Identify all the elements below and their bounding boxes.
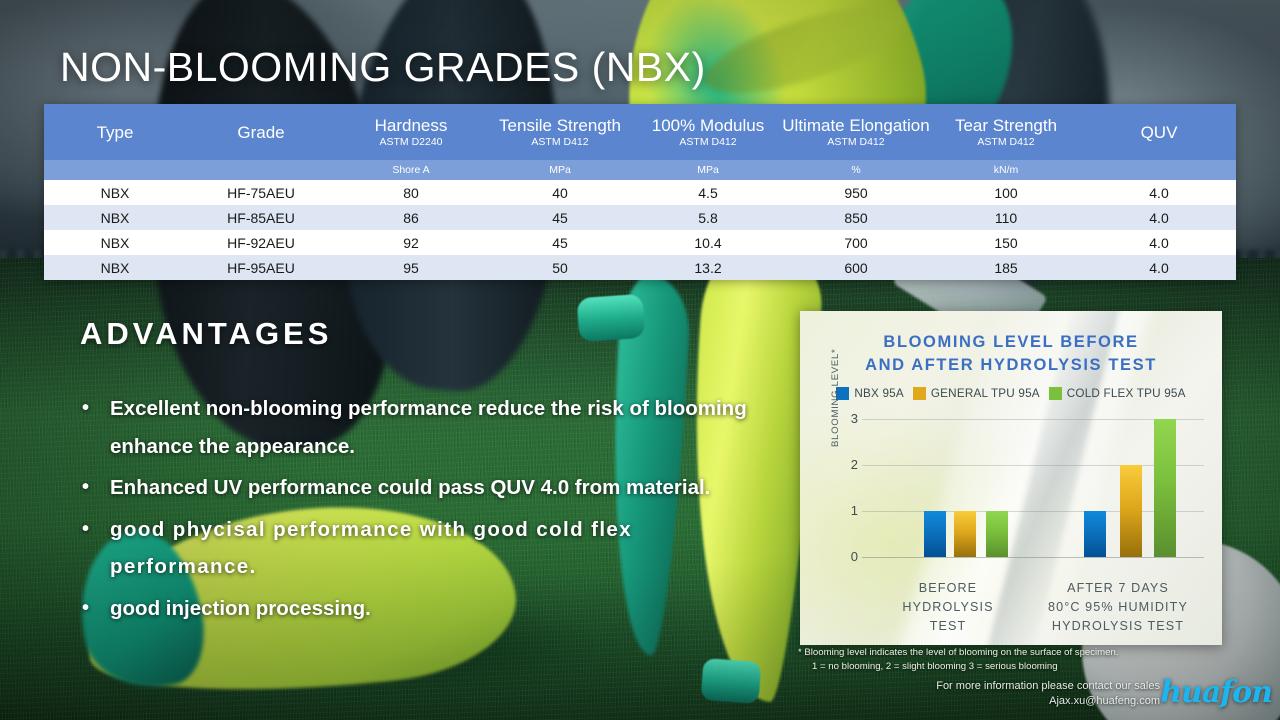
x-label-line: HYDROLYSIS TEST (1018, 617, 1218, 636)
unit-hardness: Shore A (336, 160, 486, 180)
y-tick-0: 0 (836, 549, 858, 564)
table-col-type: Type (44, 104, 186, 160)
unit-modulus: MPa (634, 160, 782, 180)
bar-nbx-95a-before (924, 511, 946, 557)
unit-tensile: MPa (486, 160, 634, 180)
legend-item-nbx-95a: NBX 95A (836, 387, 903, 400)
table-row: NBX HF-92AEU 92 45 10.4 700 150 4.0 (44, 230, 1236, 255)
contact-email[interactable]: Ajax.xu@huafeng.com (936, 694, 1160, 709)
cell-tensile: 50 (486, 255, 634, 280)
unit-grade (186, 160, 336, 180)
spec-table: Type Grade Hardness ASTM D2240 Tensile S… (44, 104, 1236, 280)
unit-quv (1082, 160, 1236, 180)
x-label-line: HYDROLYSIS (868, 598, 1028, 617)
cell-grade: HF-95AEU (186, 255, 336, 280)
chart-y-axis-label: BLOOMING LEVEL* (830, 337, 841, 447)
footnote-line-1: * Blooming level indicates the level of … (798, 647, 1119, 658)
table-col-100-modulus: 100% Modulus ASTM D412 (634, 104, 782, 160)
chart-title-line1: BLOOMING LEVEL BEFORE (883, 333, 1138, 351)
table-col-tear-strength: Tear Strength ASTM D412 (930, 104, 1082, 160)
table-row: NBX HF-95AEU 95 50 13.2 600 185 4.0 (44, 255, 1236, 280)
cell-hardness: 92 (336, 230, 486, 255)
cell-hardness: 80 (336, 180, 486, 205)
cell-type: NBX (44, 180, 186, 205)
cell-tear: 185 (930, 255, 1082, 280)
unit-elongation: % (782, 160, 930, 180)
chart-title: BLOOMING LEVEL BEFORE AND AFTER HYDROLYS… (800, 331, 1222, 377)
chart-footnote: * Blooming level indicates the level of … (798, 646, 1228, 673)
x-category-label-after: AFTER 7 DAYS 80°C 95% HUMIDITY HYDROLYSI… (1018, 579, 1218, 636)
cell-type: NBX (44, 255, 186, 280)
legend-item-cold-flex-tpu-95a: COLD FLEX TPU 95A (1049, 387, 1186, 400)
legend-label-cold-flex-tpu-95a: COLD FLEX TPU 95A (1067, 387, 1186, 400)
footnote-line-2: 1 = no blooming, 2 = slight blooming 3 =… (798, 660, 1228, 674)
table-col-ultimate-elongation: Ultimate Elongation ASTM D412 (782, 104, 930, 160)
legend-label-nbx-95a: NBX 95A (854, 387, 903, 400)
table-col-tensile-strength: Tensile Strength ASTM D412 (486, 104, 634, 160)
cell-tear: 100 (930, 180, 1082, 205)
list-item: good phycisal performance with good cold… (78, 511, 768, 586)
cell-grade: HF-92AEU (186, 230, 336, 255)
bar-cold-flex-tpu-95a-before (986, 511, 1008, 557)
table-units-row: Shore A MPa MPa % kN/m (44, 160, 1236, 180)
cell-modulus: 13.2 (634, 255, 782, 280)
axis-baseline (862, 557, 1204, 558)
chart-panel: BLOOMING LEVEL BEFORE AND AFTER HYDROLYS… (800, 311, 1222, 645)
chart-plot-area: BLOOMING LEVEL* 3 2 1 0 (836, 419, 1204, 579)
huafon-logo: huafon (1160, 675, 1272, 710)
table-col-quv: QUV (1082, 104, 1236, 160)
cell-elongation: 700 (782, 230, 930, 255)
cell-elongation: 950 (782, 180, 930, 205)
unit-type (44, 160, 186, 180)
cell-quv: 4.0 (1082, 205, 1236, 230)
cell-hardness: 86 (336, 205, 486, 230)
cell-tear: 110 (930, 205, 1082, 230)
table-row: NBX HF-85AEU 86 45 5.8 850 110 4.0 (44, 205, 1236, 230)
cell-grade: HF-85AEU (186, 205, 336, 230)
list-item: Excellent non-blooming performance reduc… (78, 390, 768, 465)
cell-hardness: 95 (336, 255, 486, 280)
table-header-row: Type Grade Hardness ASTM D2240 Tensile S… (44, 104, 1236, 160)
bar-cold-flex-tpu-95a-after (1154, 419, 1176, 557)
cell-elongation: 600 (782, 255, 930, 280)
cell-elongation: 850 (782, 205, 930, 230)
unit-tear: kN/m (930, 160, 1082, 180)
legend-swatch-cold-flex-tpu-95a (1049, 387, 1062, 400)
legend-swatch-general-tpu-95a (913, 387, 926, 400)
table-row: NBX HF-75AEU 80 40 4.5 950 100 4.0 (44, 180, 1236, 205)
legend-label-general-tpu-95a: GENERAL TPU 95A (931, 387, 1040, 400)
advantages-heading: ADVANTAGES (80, 316, 332, 352)
bar-nbx-95a-after (1084, 511, 1106, 557)
y-tick-1: 1 (836, 503, 858, 518)
cell-quv: 4.0 (1082, 255, 1236, 280)
contact-info: For more information please contact our … (936, 679, 1160, 708)
cell-modulus: 5.8 (634, 205, 782, 230)
x-label-line: 80°C 95% HUMIDITY (1018, 598, 1218, 617)
x-label-line: BEFORE (868, 579, 1028, 598)
cell-quv: 4.0 (1082, 180, 1236, 205)
y-tick-2: 2 (836, 457, 858, 472)
cell-modulus: 10.4 (634, 230, 782, 255)
chart-title-line2: AND AFTER HYDROLYSIS TEST (865, 356, 1157, 374)
y-tick-3: 3 (836, 411, 858, 426)
cell-modulus: 4.5 (634, 180, 782, 205)
bars-container (862, 419, 1204, 557)
bar-general-tpu-95a-after (1120, 465, 1142, 557)
cell-grade: HF-75AEU (186, 180, 336, 205)
table-col-hardness: Hardness ASTM D2240 (336, 104, 486, 160)
cell-tensile: 45 (486, 205, 634, 230)
x-label-line: AFTER 7 DAYS (1018, 579, 1218, 598)
x-category-label-before: BEFORE HYDROLYSIS TEST (868, 579, 1028, 636)
bar-general-tpu-95a-before (954, 511, 976, 557)
advantages-list: Excellent non-blooming performance reduc… (78, 390, 768, 631)
page-title: NON-BLOOMING GRADES (NBX) (60, 44, 706, 91)
list-item: Enhanced UV performance could pass QUV 4… (78, 469, 768, 507)
cell-quv: 4.0 (1082, 230, 1236, 255)
cell-type: NBX (44, 205, 186, 230)
legend-item-general-tpu-95a: GENERAL TPU 95A (913, 387, 1040, 400)
contact-line-1: For more information please contact our … (936, 679, 1160, 694)
cell-tensile: 45 (486, 230, 634, 255)
x-label-line: TEST (868, 617, 1028, 636)
list-item: good injection processing. (78, 590, 768, 628)
cell-type: NBX (44, 230, 186, 255)
chart-legend: NBX 95A GENERAL TPU 95A COLD FLEX TPU 95… (800, 387, 1222, 400)
table-col-grade: Grade (186, 104, 336, 160)
cell-tear: 150 (930, 230, 1082, 255)
cell-tensile: 40 (486, 180, 634, 205)
